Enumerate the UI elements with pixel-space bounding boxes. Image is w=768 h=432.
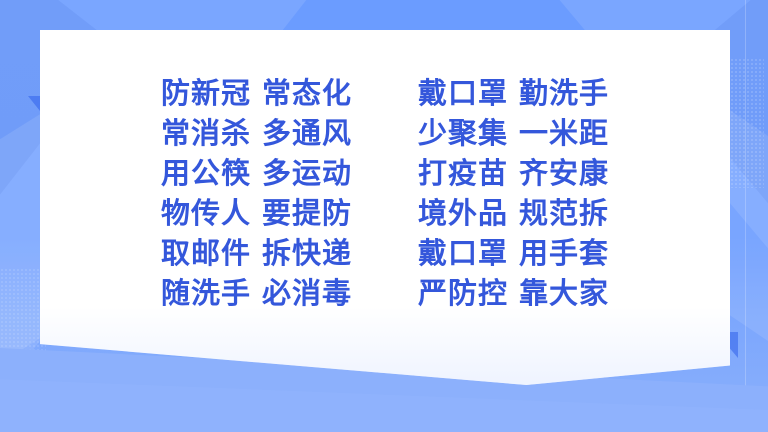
slogan-line: 严防控靠大家 xyxy=(418,274,609,312)
slogan-phrase-first: 严防控 xyxy=(418,276,508,310)
slogan-phrase-first: 物传人 xyxy=(161,196,251,230)
slogan-phrase-second: 勤洗手 xyxy=(519,76,609,110)
slogan-line: 用公筷多运动 xyxy=(161,154,352,192)
slogan-grid: 防新冠常态化 常消杀多通风 用公筷多运动 物传人要提防 取邮件拆快递 随洗手必消… xyxy=(40,30,730,385)
poster-canvas: 防新冠常态化 常消杀多通风 用公筷多运动 物传人要提防 取邮件拆快递 随洗手必消… xyxy=(0,0,768,432)
slogan-phrase-first: 戴口罩 xyxy=(418,236,508,270)
slogan-line: 戴口罩用手套 xyxy=(418,234,609,272)
slogan-line: 打疫苗齐安康 xyxy=(418,154,609,192)
slogan-phrase-second: 规范拆 xyxy=(519,196,609,230)
slogan-phrase-second: 要提防 xyxy=(262,196,352,230)
slogan-phrase-first: 打疫苗 xyxy=(418,156,508,190)
slogan-phrase-second: 用手套 xyxy=(519,236,609,270)
slogan-line: 境外品规范拆 xyxy=(418,194,609,232)
slogan-phrase-second: 靠大家 xyxy=(519,276,609,310)
slogan-phrase-first: 防新冠 xyxy=(161,76,251,110)
slogan-line: 常消杀多通风 xyxy=(161,114,352,152)
slogan-phrase-second: 必消毒 xyxy=(262,276,352,310)
slogan-phrase-second: 常态化 xyxy=(262,76,352,110)
slogan-phrase-second: 多通风 xyxy=(262,116,352,150)
slogan-phrase-first: 随洗手 xyxy=(161,276,251,310)
slogan-line: 防新冠常态化 xyxy=(161,74,352,112)
slogan-line: 随洗手必消毒 xyxy=(161,274,352,312)
decorative-edge-line xyxy=(745,0,746,432)
slogan-line: 戴口罩勤洗手 xyxy=(418,74,609,112)
slogan-phrase-second: 拆快递 xyxy=(262,236,352,270)
slogan-phrase-first: 取邮件 xyxy=(161,236,251,270)
slogan-line: 少聚集一米距 xyxy=(418,114,609,152)
slogan-phrase-first: 境外品 xyxy=(418,196,508,230)
slogan-column-right: 戴口罩勤洗手 少聚集一米距 打疫苗齐安康 境外品规范拆 戴口罩用手套 严防控靠大… xyxy=(418,74,609,312)
slogan-phrase-first: 少聚集 xyxy=(418,116,508,150)
slogan-phrase-second: 齐安康 xyxy=(519,156,609,190)
slogan-phrase-second: 一米距 xyxy=(519,116,609,150)
slogan-phrase-second: 多运动 xyxy=(262,156,352,190)
slogan-line: 物传人要提防 xyxy=(161,194,352,232)
slogan-phrase-first: 戴口罩 xyxy=(418,76,508,110)
slogan-line: 取邮件拆快递 xyxy=(161,234,352,272)
slogan-phrase-first: 用公筷 xyxy=(161,156,251,190)
slogan-phrase-first: 常消杀 xyxy=(161,116,251,150)
slogan-column-left: 防新冠常态化 常消杀多通风 用公筷多运动 物传人要提防 取邮件拆快递 随洗手必消… xyxy=(161,74,352,312)
